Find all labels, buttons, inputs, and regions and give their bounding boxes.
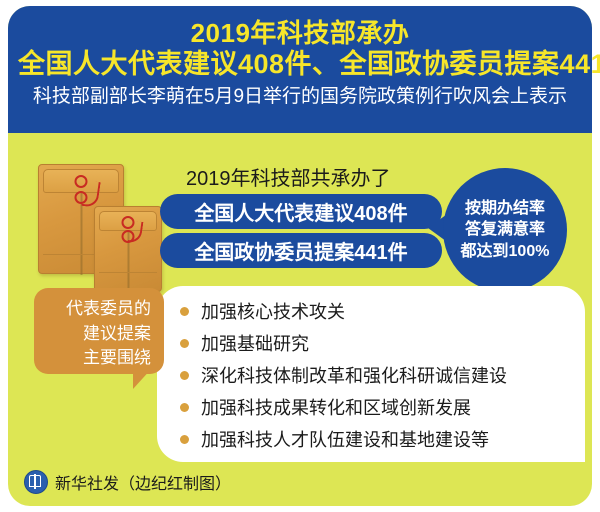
circle-callout-line-1: 按期办结率	[465, 198, 545, 219]
circle-callout-line-2: 答复满意率	[465, 219, 545, 240]
infographic-root: 2019年科技部承办 全国人大代表建议408件、全国政协委员提案441件 科技部…	[0, 0, 600, 512]
circle-callout-line-3: 都达到100%	[461, 241, 550, 262]
list-item: 加强科技人才队伍建设和基地建设等	[180, 423, 580, 455]
xinhua-seal-icon	[24, 470, 48, 494]
header-title-line-1: 2019年科技部承办	[18, 18, 582, 49]
header-banner: 2019年科技部承办 全国人大代表建议408件、全国政协委员提案441件 科技部…	[8, 6, 592, 133]
focus-areas-list: 加强核心技术攻关 加强基础研究 深化科技体制改革和强化科研诚信建设 加强科技成果…	[180, 295, 580, 455]
list-item: 加强基础研究	[180, 327, 580, 359]
envelope-small-icon	[94, 206, 162, 292]
envelope-clasp-top	[75, 175, 88, 188]
stat-pill-npc-suggestions: 全国人大代表建议408件	[160, 194, 442, 229]
bullet-dot-icon	[180, 307, 189, 316]
list-item: 加强科技成果转化和区域创新发展	[180, 391, 580, 423]
list-item-label: 加强基础研究	[201, 330, 309, 356]
speech-bubble-line-3: 主要围绕	[42, 346, 151, 371]
envelopes-illustration	[36, 162, 176, 292]
list-item: 加强核心技术攻关	[180, 295, 580, 327]
bullet-dot-icon	[180, 435, 189, 444]
envelope-clasp-top	[122, 216, 135, 229]
envelope-clasp-bottom	[75, 191, 88, 204]
circle-callout-completion-rate: 按期办结率 答复满意率 都达到100%	[443, 168, 567, 292]
speech-bubble-line-1: 代表委员的	[42, 297, 151, 322]
envelope-bottom-edge	[99, 272, 157, 287]
bullet-dot-icon	[180, 339, 189, 348]
list-item: 深化科技体制改革和强化科研诚信建设	[180, 359, 580, 391]
footer-credit-label: 新华社发（边纪红制图）	[55, 470, 231, 494]
envelope-clasp-bottom	[122, 230, 135, 243]
bullet-dot-icon	[180, 371, 189, 380]
list-item-label: 加强科技人才队伍建设和基地建设等	[201, 426, 489, 452]
speech-bubble-line-2: 建议提案	[42, 322, 151, 347]
list-item-label: 加强核心技术攻关	[201, 298, 345, 324]
stat-pill-cppcc-proposals: 全国政协委员提案441件	[160, 233, 442, 268]
middle-lead-text: 2019年科技部共承办了	[186, 162, 391, 191]
header-title-line-2: 全国人大代表建议408件、全国政协委员提案441件	[18, 49, 582, 81]
list-item-label: 加强科技成果转化和区域创新发展	[201, 394, 471, 420]
footer-credit: 新华社发（边纪红制图）	[24, 470, 231, 494]
list-item-label: 深化科技体制改革和强化科研诚信建设	[201, 362, 507, 388]
bullet-dot-icon	[180, 403, 189, 412]
header-subtitle: 科技部副部长李萌在5月9日举行的国务院政策例行吹风会上表示	[18, 85, 582, 109]
speech-bubble-focus-intro: 代表委员的 建议提案 主要围绕	[34, 288, 164, 374]
